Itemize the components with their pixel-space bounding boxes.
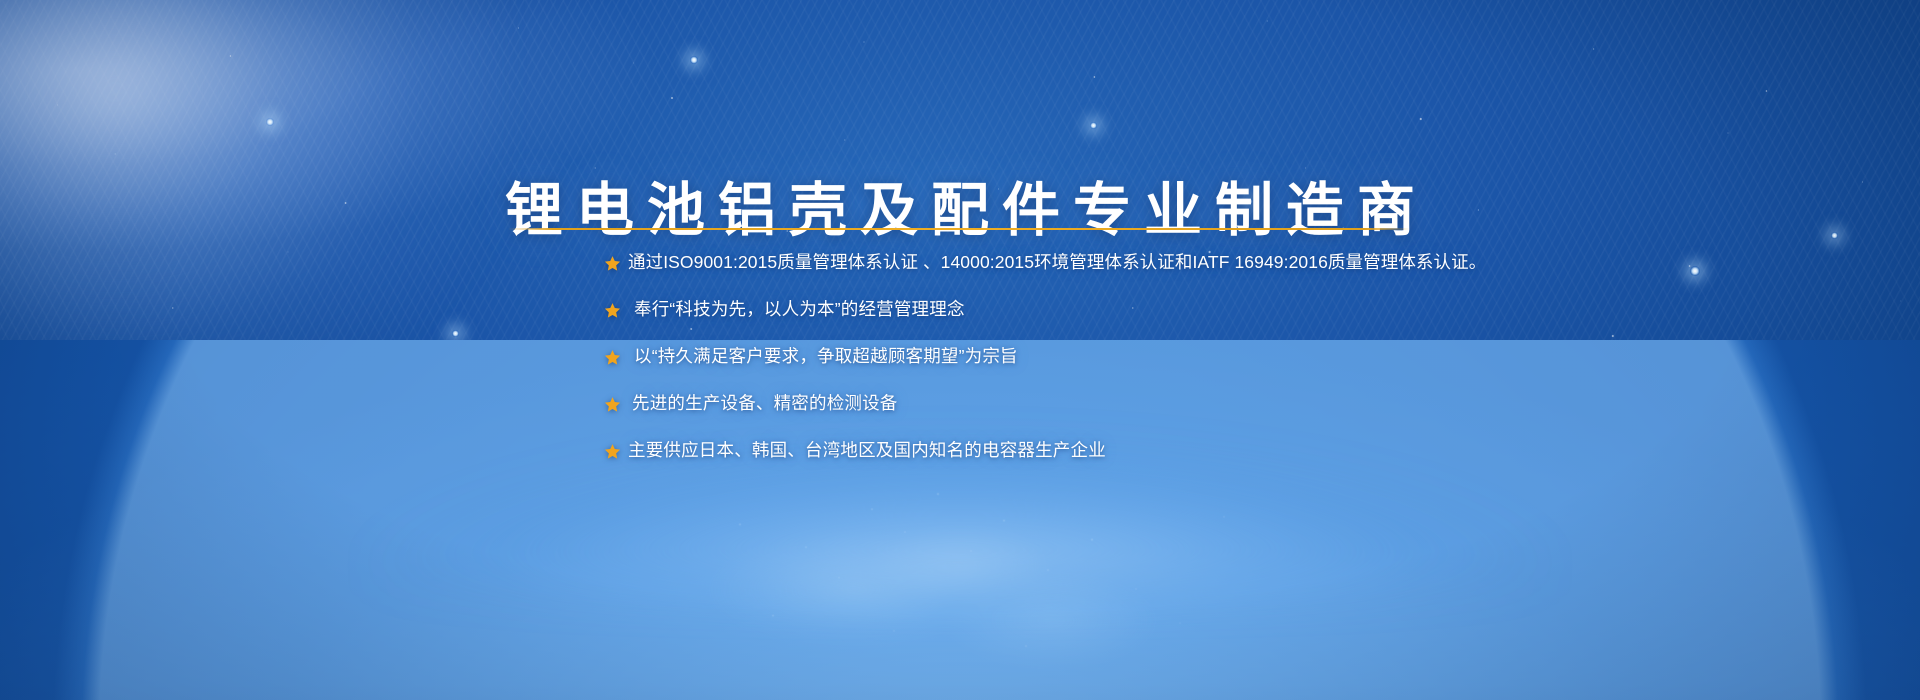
star-icon: [604, 396, 621, 413]
hero-banner: 锂电池铝壳及配件专业制造商 通过ISO9001:2015质量管理体系认证 、14…: [0, 0, 1920, 700]
list-item: 奉行“科技为先，以人为本”的经营管理理念: [604, 294, 1804, 326]
banner-content: 锂电池铝壳及配件专业制造商 通过ISO9001:2015质量管理体系认证 、14…: [0, 0, 1920, 700]
list-item-label: 奉行“科技为先，以人为本”的经营管理理念: [634, 301, 965, 319]
list-item-label: 先进的生产设备、精密的检测设备: [632, 395, 898, 413]
list-item-label: 以“持久满足客户要求，争取超越顾客期望”为宗旨: [634, 348, 1018, 366]
list-item: 主要供应日本、韩国、台湾地区及国内知名的电容器生产企业: [604, 435, 1804, 467]
star-icon: [604, 255, 621, 272]
page-title: 锂电池铝壳及配件专业制造商: [0, 179, 1920, 244]
feature-list: 通过ISO9001:2015质量管理体系认证 、14000:2015环境管理体系…: [604, 247, 1804, 467]
star-icon: [604, 443, 621, 460]
list-item: 先进的生产设备、精密的检测设备: [604, 388, 1804, 420]
list-item-label: 通过ISO9001:2015质量管理体系认证 、14000:2015环境管理体系…: [628, 254, 1486, 272]
star-icon: [604, 302, 621, 319]
gold-divider-line: [508, 228, 1410, 230]
star-icon: [604, 349, 621, 366]
list-item: 以“持久满足客户要求，争取超越顾客期望”为宗旨: [604, 341, 1804, 373]
list-item-label: 主要供应日本、韩国、台湾地区及国内知名的电容器生产企业: [628, 442, 1106, 460]
list-item: 通过ISO9001:2015质量管理体系认证 、14000:2015环境管理体系…: [604, 247, 1804, 279]
